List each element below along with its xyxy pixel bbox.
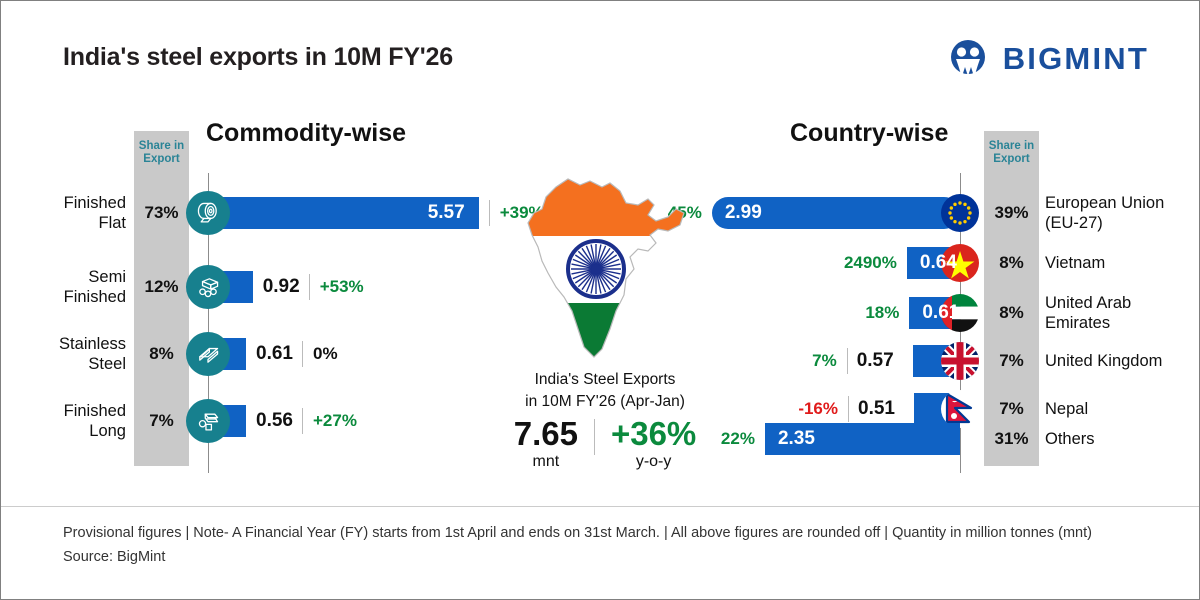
share-header-line2: Export	[134, 153, 189, 166]
total-volume-unit: mnt	[514, 452, 578, 472]
country-label: European Union(EU-27)	[1045, 193, 1195, 233]
centre-caption-line2: in 10M FY'26 (Apr-Jan)	[471, 391, 739, 413]
page-title: India's steel exports in 10M FY'26	[63, 43, 453, 72]
european-union-flag-icon	[941, 194, 979, 232]
country-change-value: 2490%	[1, 253, 897, 273]
country-value: 2.35	[778, 428, 815, 450]
country-share-value: 39%	[984, 203, 1039, 223]
country-label-line1: European Union	[1045, 193, 1195, 213]
country-value: 0.64	[920, 252, 957, 274]
infographic-canvas: India's steel exports in 10M FY'26 BIGMI…	[0, 0, 1200, 600]
country-change-value: 7%	[1, 351, 837, 371]
total-volume-value: 7.65	[514, 416, 578, 452]
country-label-line2: Emirates	[1045, 313, 1195, 333]
share-header-line1: Share in	[984, 140, 1039, 153]
centre-caption-line1: India's Steel Exports	[471, 369, 739, 391]
country-change-value: 18%	[1, 303, 899, 323]
total-volume-stat: 7.65 mnt	[514, 416, 578, 472]
united-kingdom-flag-icon	[941, 342, 979, 380]
centre-total-stats: 7.65 mnt +36% y-o-y	[471, 416, 739, 472]
country-value: 2.99	[725, 202, 762, 224]
country-share-value: 8%	[984, 303, 1039, 323]
footer-note-line: Provisional figures | Note- A Financial …	[63, 521, 1163, 545]
bigmint-wordmark: BIGMINT	[1003, 41, 1149, 77]
country-share-value: 8%	[984, 253, 1039, 273]
country-label: Others	[1045, 429, 1195, 449]
india-tricolor-map-icon	[498, 169, 708, 369]
share-in-export-header-left: Share in Export	[134, 140, 189, 166]
bigmint-logo: BIGMINT	[946, 37, 1149, 81]
country-label-line1: United Kingdom	[1045, 351, 1195, 371]
footer-divider	[1, 506, 1200, 507]
total-change-value: +36%	[611, 416, 696, 452]
value-change-separator	[847, 348, 848, 374]
country-share-value: 31%	[984, 429, 1039, 449]
commodity-section-title: Commodity-wise	[206, 119, 406, 148]
country-label-line1: Vietnam	[1045, 253, 1195, 273]
bigmint-figures-icon	[946, 37, 990, 81]
country-label: United Kingdom	[1045, 351, 1195, 371]
centre-caption: India's Steel Exports in 10M FY'26 (Apr-…	[471, 369, 739, 413]
share-header-line1: Share in	[134, 140, 189, 153]
country-value: 0.61	[922, 302, 959, 324]
country-label-line1: United Arab	[1045, 293, 1195, 313]
share-header-line2: Export	[984, 153, 1039, 166]
country-section-title: Country-wise	[790, 119, 948, 148]
total-change-period: y-o-y	[611, 452, 696, 472]
share-in-export-header-right: Share in Export	[984, 140, 1039, 166]
country-label: United ArabEmirates	[1045, 293, 1195, 333]
footer-notes: Provisional figures | Note- A Financial …	[63, 521, 1163, 569]
country-label: Vietnam	[1045, 253, 1195, 273]
stats-divider	[594, 419, 595, 455]
country-label-line1: Others	[1045, 429, 1195, 449]
country-value: 0.57	[857, 350, 894, 372]
country-label-line2: (EU-27)	[1045, 213, 1195, 233]
total-change-stat: +36% y-o-y	[611, 416, 696, 472]
footer-source-line: Source: BigMint	[63, 545, 1163, 569]
country-share-value: 7%	[984, 351, 1039, 371]
